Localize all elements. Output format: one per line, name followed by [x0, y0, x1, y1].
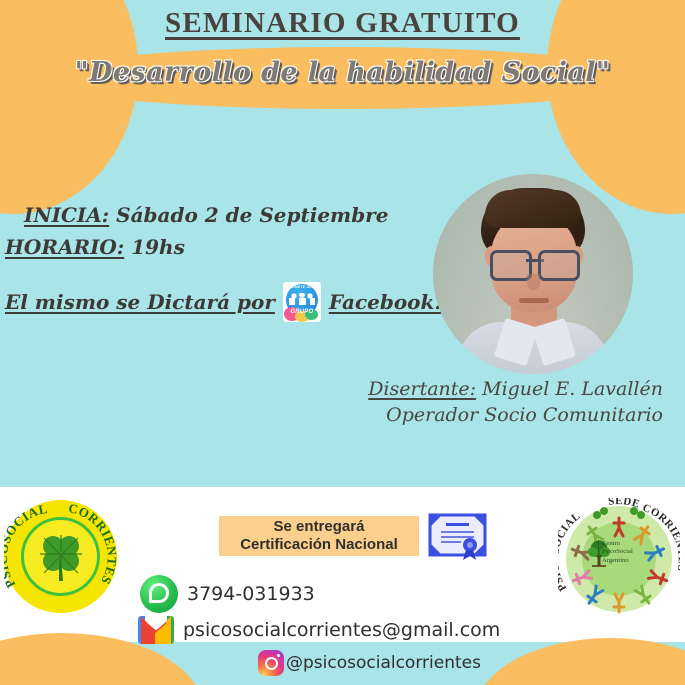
page-title: SEMINARIO GRATUITO: [0, 7, 685, 40]
speaker-role: Operador Socio Comunitario: [368, 402, 663, 428]
logo-right-core-line2: PsicoSocial: [602, 548, 642, 556]
platform-name: Facebook.: [329, 290, 441, 314]
poster-canvas: SEMINARIO GRATUITO "Desarrollo de la hab…: [0, 0, 685, 685]
speaker-info: Disertante: Miguel E. Lavallén Operador …: [368, 376, 663, 428]
schedule-value: 19hs: [131, 235, 185, 259]
clover-icon: [38, 533, 84, 581]
certification-line2: Certificación Nacional: [240, 536, 398, 554]
logo-psicosocial-corrientes: PSICOSOCIAL CORRIENTES: [4, 500, 117, 613]
instagram-contact[interactable]: @psicosocialcorrientes: [258, 650, 481, 676]
speaker-label: Disertante:: [368, 378, 476, 400]
schedule-line: HORARIO: 19hs: [5, 235, 185, 259]
platform-line: El mismo se Dictará por ÚNETE AL GRUPO F…: [5, 282, 441, 322]
photo-nose: [527, 274, 540, 290]
start-date-line: INICIA: Sábado 2 de Septiembre: [24, 203, 388, 227]
certification-line1: Se entregará: [274, 518, 365, 536]
start-date-value: Sábado 2 de Septiembre: [116, 203, 388, 227]
logo-right-text-right: CORRIENTES: [641, 502, 680, 572]
photo-mouth: [519, 298, 549, 303]
speaker-photo: [433, 174, 633, 374]
whatsapp-number: 3794-031933: [187, 583, 315, 605]
facebook-group-icon-top-label: ÚNETE AL: [283, 285, 321, 289]
speaker-name: Miguel E. Lavallén: [482, 378, 663, 400]
facebook-group-icon-bodies: [289, 298, 315, 305]
start-date-label: INICIA:: [24, 203, 109, 227]
logo-right-core-text: Centro PsicoSocial Argentino: [598, 540, 642, 565]
photo-glasses: [490, 250, 580, 276]
logo-right-core-line3: Argentino: [602, 557, 642, 565]
photo-glasses-lens-left: [490, 250, 532, 281]
logo-right-core-line1: Centro: [602, 540, 642, 548]
facebook-group-icon[interactable]: ÚNETE AL GRUPO: [283, 282, 321, 322]
whatsapp-contact[interactable]: 3794-031933: [140, 575, 315, 613]
schedule-label: HORARIO:: [5, 235, 124, 259]
email-contact[interactable]: psicosocialcorrientes@gmail.com: [138, 616, 500, 644]
logo-centro-psicosocial-argentino: PSICOSOCIAL SEDE CORRIENTES: [558, 498, 680, 620]
whatsapp-icon[interactable]: [140, 575, 178, 613]
instagram-handle: @psicosocialcorrientes: [286, 653, 481, 673]
instagram-icon[interactable]: [258, 650, 284, 676]
page-subtitle: "Desarrollo de la habilidad Social": [0, 57, 685, 88]
certificate-icon: [427, 512, 488, 562]
gmail-icon[interactable]: [138, 616, 174, 644]
facebook-group-icon-label: GRUPO: [283, 309, 321, 315]
photo-glasses-lens-right: [538, 250, 580, 281]
platform-prefix: El mismo se Dictará por: [5, 290, 275, 314]
photo-fringe: [485, 190, 581, 228]
certification-badge: Se entregará Certificación Nacional: [219, 516, 419, 556]
email-address: psicosocialcorrientes@gmail.com: [183, 619, 500, 641]
